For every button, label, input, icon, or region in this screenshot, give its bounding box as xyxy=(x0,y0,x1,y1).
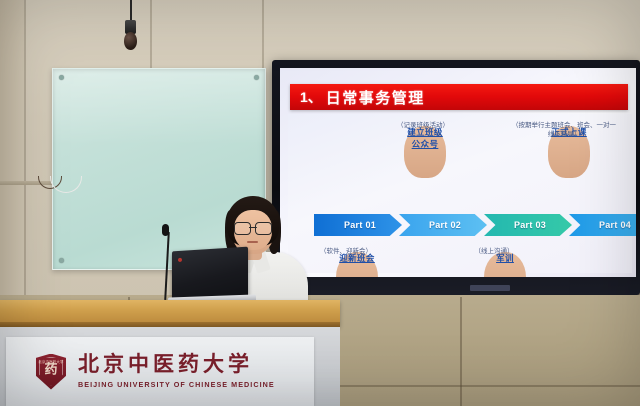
slide-title-bar: 1、 日常事务管理 xyxy=(290,84,628,110)
glasses-icon xyxy=(234,222,272,233)
chevron-part-01[interactable]: Part 01 xyxy=(314,214,402,236)
wall-mounted-display[interactable]: 1、 日常事务管理 建立班级公众号 （记录班级活动） 正式上课 （按期举行主题班… xyxy=(272,60,640,295)
university-sign: 北京中医药大学 药 北京中医药大学 BEIJING UNIVERSITY OF … xyxy=(6,337,314,406)
glasses-lens-right xyxy=(255,222,272,235)
step-label-part-02: 建立班级公众号 （记录班级活动） xyxy=(368,120,478,131)
wall-left-column xyxy=(0,0,24,300)
step-head: 建立班级公众号 xyxy=(404,126,446,178)
university-name-en: BEIJING UNIVERSITY OF CHINESE MEDICINE xyxy=(78,380,275,389)
slide-title-text: 日常事务管理 xyxy=(326,87,425,108)
chevron-label: Part 01 xyxy=(340,220,376,230)
step-sub: （记录班级活动） xyxy=(368,122,478,131)
desk-microphone-icon xyxy=(162,224,169,236)
step-sub: （按期举行主题班会、班会、一对一线下辅导） xyxy=(512,122,616,140)
cabinet-seam xyxy=(330,385,640,387)
chevron-label: Part 02 xyxy=(425,220,461,230)
chevron-part-03[interactable]: Part 03 xyxy=(484,214,572,236)
chevron-part-02[interactable]: Part 02 xyxy=(399,214,487,236)
hanging-microphone-icon xyxy=(124,32,137,50)
lecture-hall-scene: 1、 日常事务管理 建立班级公众号 （记录班级活动） 正式上课 （按期举行主题班… xyxy=(0,0,640,406)
step-sub: （线上沟通） xyxy=(448,248,540,257)
laptop-logo-icon xyxy=(178,258,182,262)
wall-seam xyxy=(24,0,26,300)
chevron-label: Part 04 xyxy=(595,220,631,230)
university-logo-icon: 北京中医药大学 药 xyxy=(36,354,66,390)
display-screen[interactable]: 1、 日常事务管理 建立班级公众号 （记录班级活动） 正式上课 （按期举行主题班… xyxy=(280,68,636,277)
university-name-block: 北京中医药大学 BEIJING UNIVERSITY OF CHINESE ME… xyxy=(78,354,275,388)
whiteboard-stud xyxy=(254,75,259,80)
display-brand-logo xyxy=(470,285,510,291)
slide-title-number: 1、 xyxy=(300,87,322,107)
whiteboard-gloss xyxy=(53,69,265,145)
chevron-label: Part 03 xyxy=(510,220,546,230)
step-label-part-03: 军训 （线上沟通） xyxy=(448,246,540,257)
step-label-part-04: 正式上课 （按期举行主题班会、班会、一对一线下辅导） xyxy=(512,120,616,140)
process-chevron-row: Part 01 Part 02 Part 03 Part 04 xyxy=(314,214,636,236)
presenter-mouth xyxy=(247,241,258,243)
glasses-lens-left xyxy=(234,222,251,235)
shield-mark: 药 xyxy=(44,362,57,375)
whiteboard-stud xyxy=(59,258,64,263)
step-sub: （软件、迎新会） xyxy=(300,248,392,257)
cabinet-seam xyxy=(460,297,462,385)
cabinet-seam xyxy=(460,385,462,406)
university-name-cn: 北京中医药大学 xyxy=(78,354,275,376)
step-label-part-01: 迎新班会 （软件、迎新会） xyxy=(300,246,392,257)
slide-body: 建立班级公众号 （记录班级活动） 正式上课 （按期举行主题班会、班会、一对一线下… xyxy=(288,114,632,273)
whiteboard-stud xyxy=(59,75,64,80)
presentation-slide: 1、 日常事务管理 建立班级公众号 （记录班级活动） 正式上课 （按期举行主题班… xyxy=(280,68,636,277)
chevron-part-04[interactable]: Part 04 xyxy=(569,214,636,236)
microphone-cable xyxy=(130,0,132,22)
